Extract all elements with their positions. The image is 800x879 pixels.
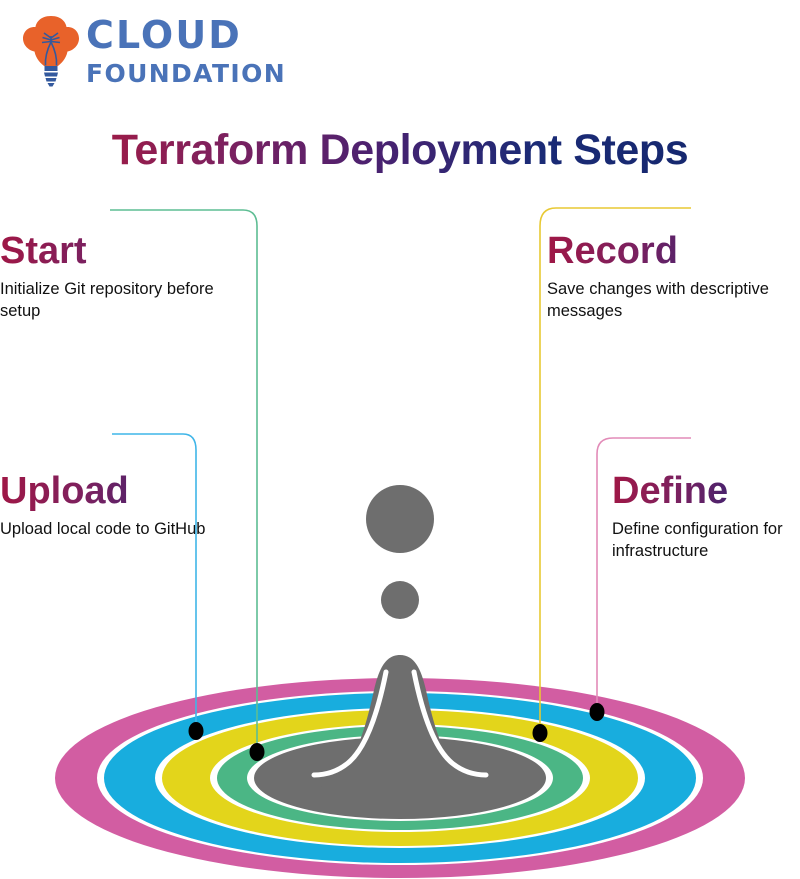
droplet-large	[366, 485, 434, 553]
infographic-page: CLOUD FOUNDATION Terraform Deployment St…	[0, 0, 800, 879]
droplet-small	[381, 581, 419, 619]
connector-line-start	[110, 210, 257, 748]
connector-dot-record	[533, 724, 548, 742]
connector-dot-upload	[189, 722, 204, 740]
connector-dot-define	[590, 703, 605, 721]
connector-line-record	[540, 208, 691, 729]
connector-line-define	[597, 438, 691, 708]
ripple-splash-illustration	[0, 0, 800, 879]
connector-line-upload	[112, 434, 196, 727]
connector-dot-start	[250, 743, 265, 761]
